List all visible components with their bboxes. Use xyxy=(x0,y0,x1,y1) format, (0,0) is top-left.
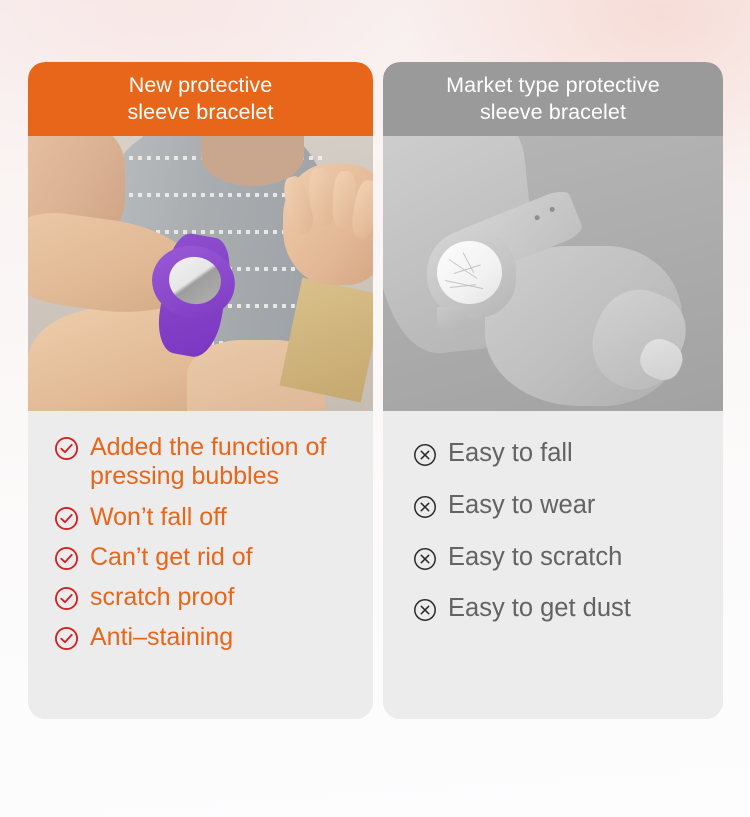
product-comparison-page: New protective sleeve bracelet xyxy=(0,0,750,817)
x-circle-icon xyxy=(413,443,437,467)
drawback-item: Easy to fall xyxy=(413,439,713,469)
feature-item: Anti–staining xyxy=(54,623,363,652)
comparison-card-new-product: New protective sleeve bracelet xyxy=(28,62,373,719)
drawback-label: Easy to get dust xyxy=(448,594,631,624)
product-photo-market xyxy=(383,136,723,411)
card-header-market-product: Market type protective sleeve bracelet xyxy=(383,62,723,136)
feature-item: Won’t fall off xyxy=(54,503,363,532)
card-header-title-new: New protective sleeve bracelet xyxy=(127,72,273,125)
feature-label: Can’t get rid of xyxy=(90,543,253,572)
feature-list-new-product: Added the function of pressing bubbles W… xyxy=(28,411,373,719)
drawback-label: Easy to wear xyxy=(448,491,595,521)
feature-list-market-product: Easy to fall Easy to wear Easy to scratc… xyxy=(383,411,723,719)
product-photo-new xyxy=(28,136,373,411)
card-header-line2-new: sleeve bracelet xyxy=(127,100,273,124)
child-hand xyxy=(283,164,373,285)
check-circle-icon xyxy=(54,546,79,571)
tracker-disc-scratched xyxy=(437,241,502,304)
drawback-label: Easy to fall xyxy=(448,439,573,469)
check-circle-icon xyxy=(54,586,79,611)
card-header-new-product: New protective sleeve bracelet xyxy=(28,62,373,136)
drawback-item: Easy to get dust xyxy=(413,594,713,624)
feature-item: scratch proof xyxy=(54,583,363,612)
check-circle-icon xyxy=(54,506,79,531)
check-circle-icon xyxy=(54,436,79,461)
feature-item: Added the function of pressing bubbles xyxy=(54,433,363,492)
drawback-item: Easy to scratch xyxy=(413,543,713,573)
x-circle-icon xyxy=(413,547,437,571)
drawback-label: Easy to scratch xyxy=(448,543,622,573)
card-header-line1-market: Market type protective xyxy=(446,73,660,97)
bracelet-tab-gray xyxy=(437,307,468,332)
feature-item: Can’t get rid of xyxy=(54,543,363,572)
x-circle-icon xyxy=(413,495,437,519)
comparison-card-market-product: Market type protective sleeve bracelet xyxy=(383,62,723,719)
feature-label: Added the function of pressing bubbles xyxy=(90,433,363,492)
card-header-title-market: Market type protective sleeve bracelet xyxy=(446,72,660,125)
card-header-line1-new: New protective xyxy=(129,73,273,97)
x-circle-icon xyxy=(413,598,437,622)
card-header-line2-market: sleeve bracelet xyxy=(480,100,626,124)
feature-label: Won’t fall off xyxy=(90,503,227,532)
check-circle-icon xyxy=(54,626,79,651)
feature-label: Anti–staining xyxy=(90,623,233,652)
drawback-item: Easy to wear xyxy=(413,491,713,521)
feature-label: scratch proof xyxy=(90,583,235,612)
